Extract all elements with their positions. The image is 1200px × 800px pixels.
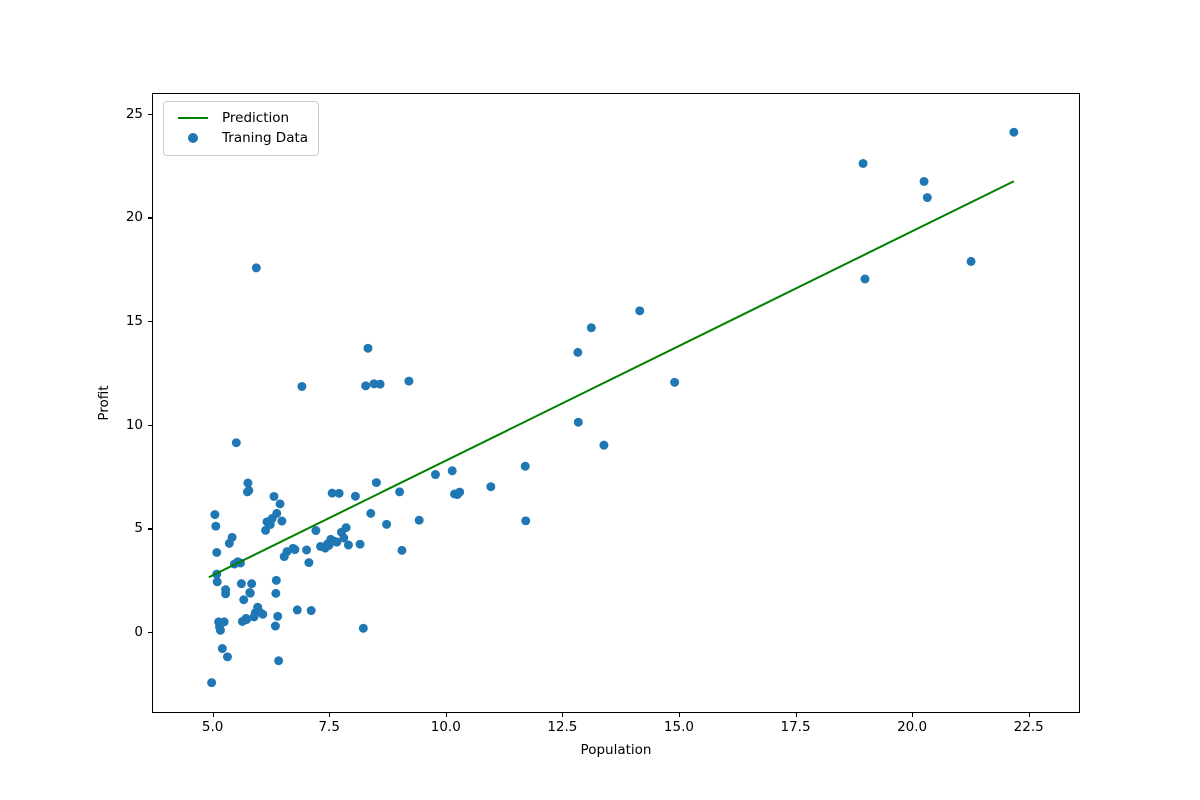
x-tick-mark [679,713,680,717]
x-tick-mark [446,713,447,717]
scatter-point [455,488,464,497]
scatter-point [290,545,299,554]
scatter-point [431,470,440,479]
legend-item-training-data[interactable]: Traning Data [172,128,308,148]
scatter-point [210,510,219,519]
scatter-point [356,540,365,549]
y-tick-label: 0 [134,624,143,640]
scatter-points-group [207,128,1018,687]
scatter-point [344,541,353,550]
x-tick-label: 15.0 [664,719,694,735]
scatter-point [246,589,255,598]
legend-item-prediction[interactable]: Prediction [172,108,308,128]
scatter-point [521,516,530,525]
scatter-point [273,612,282,621]
scatter-point [376,380,385,389]
legend-dot-swatch-icon [172,133,214,143]
prediction-line-group [209,181,1014,577]
plot-axes-frame [152,93,1080,713]
y-tick-label: 15 [126,313,143,329]
scatter-point [486,482,495,491]
scatter-point [307,606,316,615]
x-tick-label: 7.5 [318,719,339,735]
legend-label-training-data: Traning Data [214,130,308,146]
scatter-point [448,466,457,475]
scatter-point [304,558,313,567]
scatter-point [311,526,320,535]
x-tick-label: 20.0 [897,719,927,735]
scatter-point [415,516,424,525]
scatter-point [232,438,241,447]
scatter-point [342,523,351,532]
scatter-point [670,378,679,387]
x-tick-mark [213,713,214,717]
scatter-point [967,257,976,266]
scatter-point [361,381,370,390]
y-tick-label: 5 [134,520,143,536]
scatter-point [237,579,246,588]
scatter-point [221,589,230,598]
x-tick-label: 22.5 [1014,719,1044,735]
scatter-point [359,624,368,633]
scatter-point [213,577,222,586]
scatter-point [228,533,237,542]
scatter-point [252,263,261,272]
scatter-point [574,418,583,427]
scatter-point [220,617,229,626]
scatter-point [244,486,253,495]
y-tick-mark [148,528,152,529]
scatter-point [404,377,413,386]
scatter-point [223,652,232,661]
scatter-point [258,610,267,619]
y-tick-mark [148,425,152,426]
scatter-point [271,622,280,631]
y-tick-mark [148,114,152,115]
scatter-point [216,626,225,635]
y-tick-label: 20 [126,209,143,225]
scatter-point [1009,128,1018,137]
scatter-point [293,605,302,614]
scatter-point [269,492,278,501]
scatter-point [635,306,644,315]
scatter-point [382,520,391,529]
chart-legend[interactable]: Prediction Traning Data [163,101,319,156]
scatter-point [920,177,929,186]
scatter-point [599,441,608,450]
x-tick-label: 12.5 [547,719,577,735]
scatter-point [272,509,281,518]
legend-label-prediction: Prediction [214,110,289,126]
matplotlib-figure: 5.07.510.012.515.017.520.022.5 051015202… [0,0,1200,800]
scatter-point [397,546,406,555]
scatter-point [212,548,221,557]
scatter-point [573,348,582,357]
scatter-point [923,193,932,202]
prediction-line [209,181,1014,577]
x-tick-mark [1029,713,1030,717]
scatter-point [363,344,372,353]
x-tick-mark [562,713,563,717]
y-axis-label: Profit [96,385,112,420]
scatter-point [272,576,281,585]
scatter-point [302,545,311,554]
scatter-point [277,517,286,526]
scatter-point [859,159,868,168]
x-tick-mark [796,713,797,717]
scatter-point [395,487,404,496]
scatter-point [247,579,256,588]
scatter-point [297,382,306,391]
scatter-point [239,595,248,604]
scatter-point [218,644,227,653]
scatter-point [211,522,220,531]
x-tick-label: 5.0 [202,719,223,735]
scatter-point [366,509,375,518]
legend-line-swatch-icon [172,117,214,119]
scatter-point [271,589,280,598]
scatter-point [335,489,344,498]
scatter-point [860,275,869,284]
y-tick-mark [148,321,152,322]
scatter-point [274,656,283,665]
scatter-point [587,323,596,332]
y-tick-label: 25 [126,106,143,122]
plot-data-layer [153,94,1079,712]
x-tick-label: 10.0 [431,719,461,735]
x-tick-label: 17.5 [781,719,811,735]
scatter-point [521,462,530,471]
x-tick-mark [912,713,913,717]
scatter-point [207,678,216,687]
y-tick-mark [148,632,152,633]
x-axis-label: Population [581,742,652,758]
scatter-point [351,492,360,501]
y-tick-mark [148,217,152,218]
scatter-point [372,478,381,487]
scatter-point [276,499,285,508]
x-tick-mark [329,713,330,717]
y-tick-label: 10 [126,417,143,433]
